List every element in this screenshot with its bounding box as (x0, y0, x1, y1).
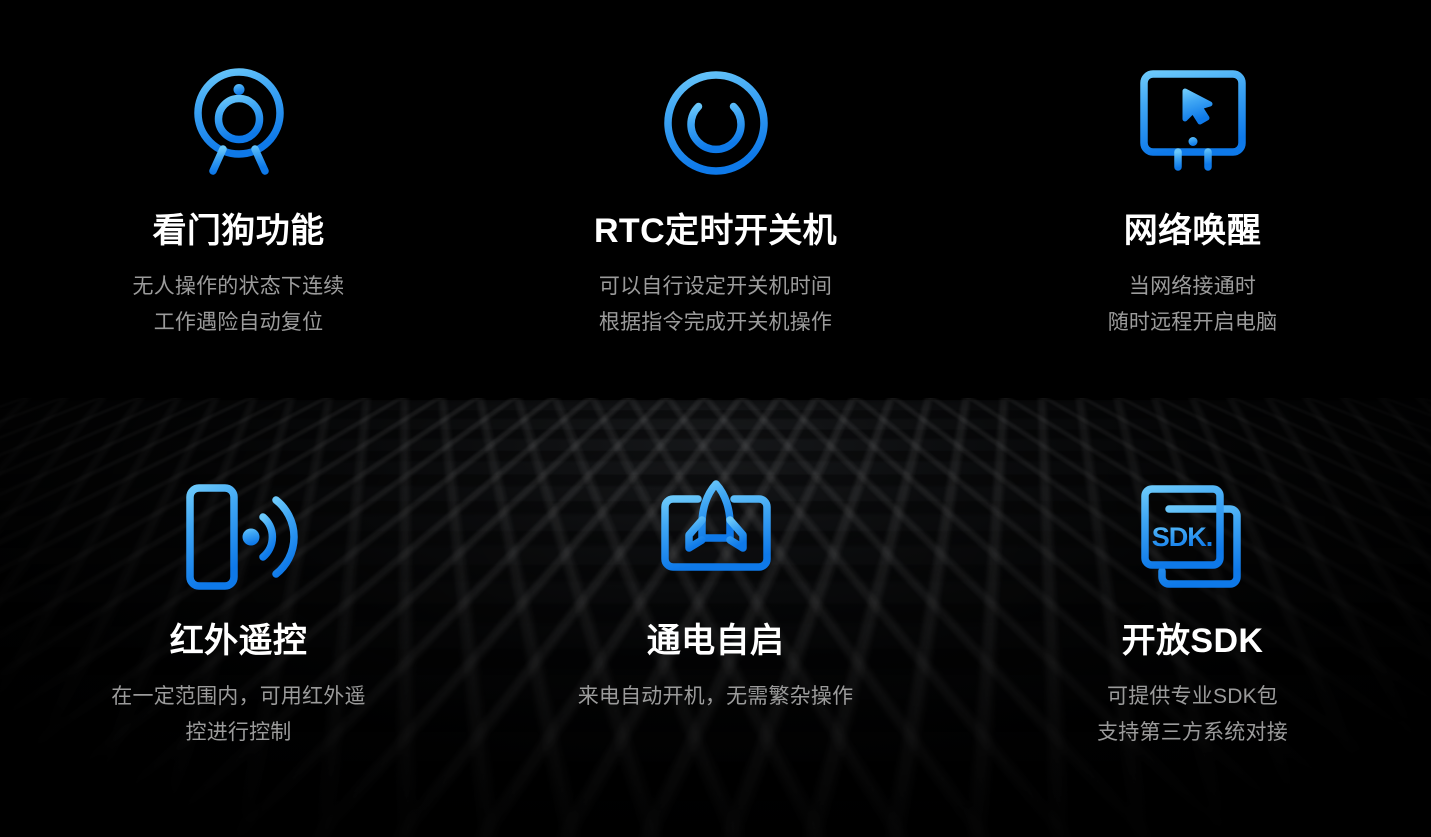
feature-title: 开放SDK (1122, 622, 1264, 660)
feature-grid-page: 看门狗功能 无人操作的状态下连续 工作遇险自动复位 RTC定时开关机 可以自行设… (0, 0, 1431, 837)
feature-title: 网络唤醒 (1124, 212, 1262, 250)
feature-description: 无人操作的状态下连续 工作遇险自动复位 (133, 269, 345, 341)
feature-card-auto-power-on[interactable]: 通电自启 来电自动开机，无需繁杂操作 (477, 418, 954, 837)
feature-description: 在一定范围内，可用红外遥 控进行控制 (111, 679, 365, 751)
monitor-cursor-icon (1130, 62, 1256, 184)
feature-card-wake-on-lan[interactable]: 网络唤醒 当网络接通时 随时远程开启电脑 (954, 0, 1431, 418)
feature-description: 可提供专业SDK包 支持第三方系统对接 (1097, 679, 1288, 751)
sdk-icon-label: SDK. (1151, 522, 1212, 552)
feature-card-open-sdk[interactable]: SDK. 开放SDK 可提供专业SDK包 支持第三方系统对接 (954, 418, 1431, 837)
monitor-rocket-icon (653, 476, 779, 598)
feature-title: 看门狗功能 (153, 212, 325, 250)
remote-signal-icon (176, 476, 302, 598)
feature-card-infrared-remote[interactable]: 红外遥控 在一定范围内，可用红外遥 控进行控制 (0, 418, 477, 837)
features-grid: 看门狗功能 无人操作的状态下连续 工作遇险自动复位 RTC定时开关机 可以自行设… (0, 0, 1431, 837)
feature-card-watchdog[interactable]: 看门狗功能 无人操作的状态下连续 工作遇险自动复位 (0, 0, 477, 418)
feature-title: 红外遥控 (170, 622, 308, 660)
feature-title: RTC定时开关机 (594, 212, 837, 250)
feature-card-rtc-timer[interactable]: RTC定时开关机 可以自行设定开关机时间 根据指令完成开关机操作 (477, 0, 954, 418)
sdk-windows-icon: SDK. (1130, 476, 1256, 598)
feature-description: 当网络接通时 随时远程开启电脑 (1108, 269, 1278, 341)
feature-description: 来电自动开机，无需繁杂操作 (578, 679, 854, 715)
power-icon (653, 62, 779, 184)
feature-description: 可以自行设定开关机时间 根据指令完成开关机操作 (599, 269, 832, 341)
feature-title: 通电自启 (647, 622, 785, 660)
webcam-icon (176, 62, 302, 184)
